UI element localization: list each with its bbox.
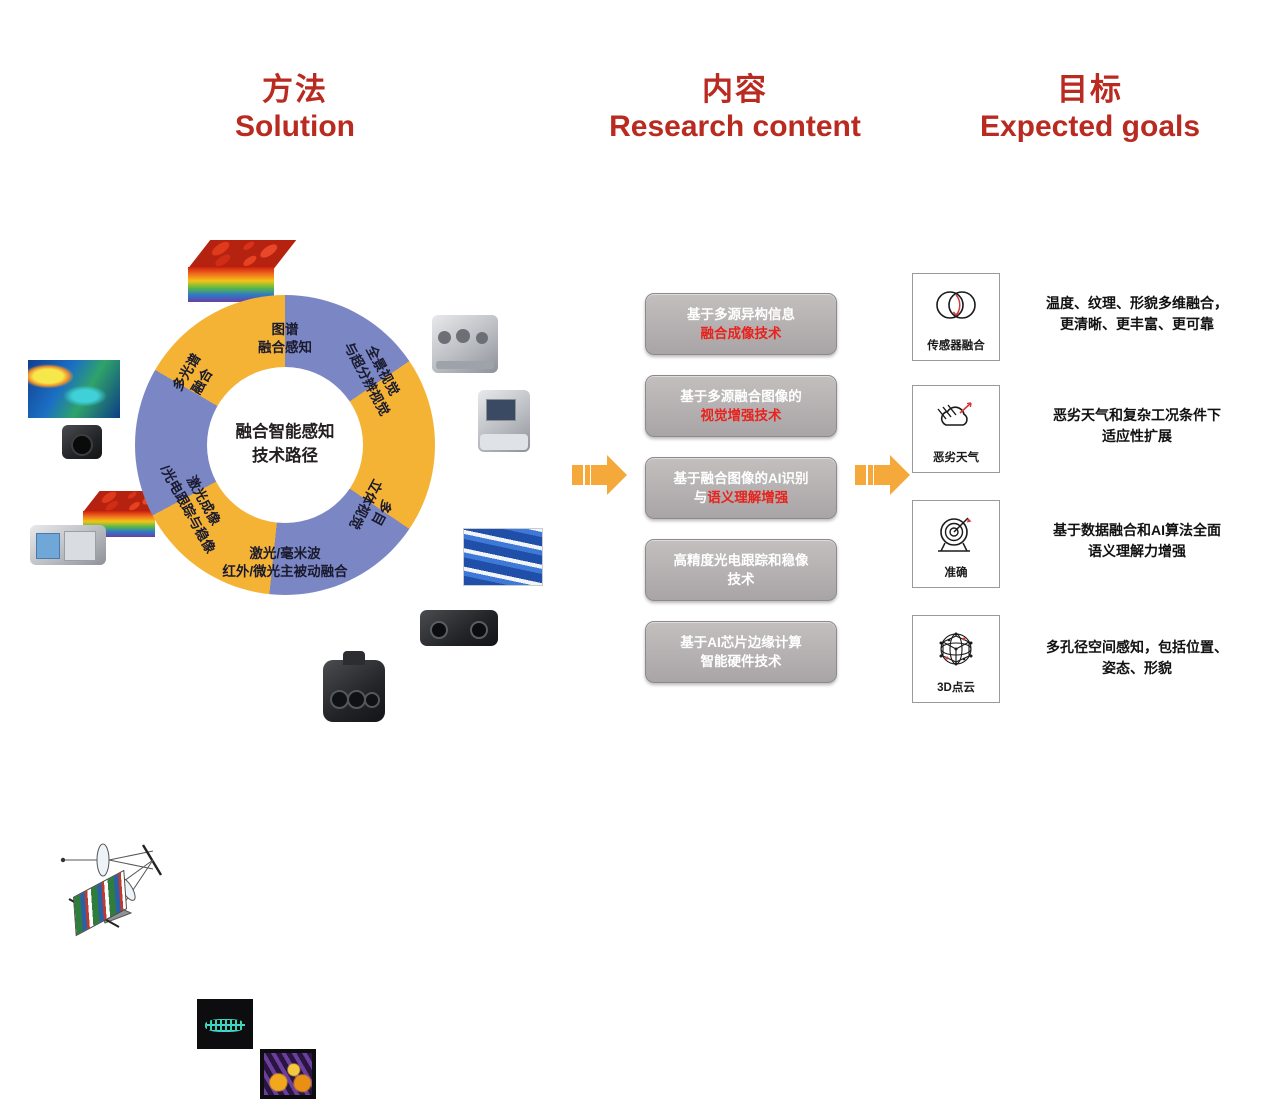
research-content-box-3-line1: 高精度光电跟踪和稳像 xyxy=(674,551,809,570)
target-dart-icon xyxy=(930,510,982,558)
column-header-goals-en: Expected goals xyxy=(940,109,1240,144)
goal-text-0-line1: 温度、纹理、形貌多维融合， xyxy=(1022,293,1252,314)
wheel-center-line1: 融合智能感知 xyxy=(236,421,335,445)
column-header-content-cn: 内容 xyxy=(585,72,885,109)
goal-text-2-line2: 语义理解力增强 xyxy=(1022,541,1252,562)
goal-text-0-line2: 更清晰、更丰富、更可靠 xyxy=(1022,314,1252,335)
research-content-box-4-line2: 智能硬件技术 xyxy=(680,652,802,671)
goal-card-sensor-fusion[interactable]: 传感器融合 xyxy=(912,273,1000,361)
research-content-box-0[interactable]: 基于多源异构信息 融合成像技术 xyxy=(645,293,837,355)
wheel-segment-3-line1: 激光/毫米波 xyxy=(217,545,353,563)
goal-card-label-3: 3D点云 xyxy=(937,679,975,695)
diagram-canvas: 方法 Solution 内容 Research content 目标 Expec… xyxy=(0,0,1268,866)
thermal-infrared-image xyxy=(28,360,120,418)
research-content-box-3-line2: 技术 xyxy=(674,570,809,589)
rain-cloud-icon xyxy=(930,395,982,443)
venn-fusion-icon xyxy=(930,283,982,331)
flow-arrow-content-to-goals xyxy=(855,455,913,495)
research-content-box-2[interactable]: 基于融合图像的AI识别 与语义理解增强 xyxy=(645,457,837,519)
research-content-box-3[interactable]: 高精度光电跟踪和稳像 技术 xyxy=(645,539,837,601)
thermal-camera-device xyxy=(62,425,102,459)
column-header-goals-cn: 目标 xyxy=(940,72,1240,109)
research-content-box-2-line1: 基于融合图像的AI识别 xyxy=(674,469,809,488)
research-content-box-1-line1: 基于多源融合图像的 xyxy=(680,387,802,406)
goal-text-1-line2: 适应性扩展 xyxy=(1022,426,1252,447)
flow-arrow-solution-to-content xyxy=(572,455,630,495)
goal-card-bad-weather[interactable]: 恶劣天气 xyxy=(912,385,1000,473)
research-content-box-1[interactable]: 基于多源融合图像的 视觉增强技术 xyxy=(645,375,837,437)
column-header-content: 内容 Research content xyxy=(585,72,885,144)
wheel-segment-label-3[interactable]: 激光/毫米波 红外/微光主被动融合 xyxy=(217,545,353,581)
goal-text-3-line2: 姿态、形貌 xyxy=(1022,658,1252,679)
goal-text-1: 恶劣天气和复杂工况条件下 适应性扩展 xyxy=(1022,405,1252,447)
column-header-goals: 目标 Expected goals xyxy=(940,72,1240,144)
optical-raytrace-schematic xyxy=(35,827,205,932)
column-header-solution-en: Solution xyxy=(150,109,440,144)
point-cloud-sphere-icon xyxy=(930,625,982,673)
panoramic-camera-rig-device xyxy=(432,315,498,373)
research-content-box-1-line2: 视觉增强技术 xyxy=(680,406,802,425)
goal-text-3: 多孔径空间感知，包括位置、 姿态、形貌 xyxy=(1022,637,1252,679)
wheel-center-label: 融合智能感知 技术路径 xyxy=(207,367,363,523)
structured-light-pattern-image xyxy=(463,528,543,586)
wheel-segment-0-line1: 图谱 xyxy=(230,321,340,339)
research-content-box-4-line1: 基于AI芯片边缘计算 xyxy=(680,633,802,652)
wheel-segment-3-line2: 红外/微光主被动融合 xyxy=(217,563,353,581)
goal-card-point-cloud[interactable]: 3D点云 xyxy=(912,615,1000,703)
column-header-solution-cn: 方法 xyxy=(150,72,440,109)
goal-text-2-line1: 基于数据融合和AI算法全面 xyxy=(1022,520,1252,541)
column-header-content-en: Research content xyxy=(585,109,885,144)
research-content-box-0-line1: 基于多源异构信息 xyxy=(687,305,795,324)
research-content-box-4[interactable]: 基于AI芯片边缘计算 智能硬件技术 xyxy=(645,621,837,683)
hyperspectral-cube-image xyxy=(188,240,274,302)
goal-text-3-line1: 多孔径空间感知，包括位置、 xyxy=(1022,637,1252,658)
technology-path-wheel: 融合智能感知 技术路径 图谱 融合感知 全景视觉 与超分辨视觉 多目 立体视觉 … xyxy=(135,295,435,595)
goal-card-label-2: 准确 xyxy=(945,564,968,580)
research-content-box-2-line2: 语义理解增强 xyxy=(707,490,788,505)
goal-card-label-0: 传感器融合 xyxy=(927,337,985,353)
scanner-device xyxy=(478,390,530,452)
goal-text-2: 基于数据融合和AI算法全面 语义理解力增强 xyxy=(1022,520,1252,562)
wheel-segment-0-line2: 融合感知 xyxy=(230,339,340,357)
stereo-camera-bar-device xyxy=(420,610,498,646)
laser-module-device xyxy=(30,525,106,565)
column-header-solution: 方法 Solution xyxy=(150,72,440,144)
research-content-box-2-line2-prefix: 与 xyxy=(694,490,708,505)
goal-text-0: 温度、纹理、形貌多维融合， 更清晰、更丰富、更可靠 xyxy=(1022,293,1252,335)
gimbal-turret-device xyxy=(323,660,385,722)
wheel-segment-label-0[interactable]: 图谱 融合感知 xyxy=(230,321,340,357)
goal-text-1-line1: 恶劣天气和复杂工况条件下 xyxy=(1022,405,1252,426)
lidar-point-cloud-image xyxy=(197,999,253,1049)
goal-card-accuracy[interactable]: 准确 xyxy=(912,500,1000,588)
research-content-box-0-line2: 融合成像技术 xyxy=(687,324,795,343)
thermal-scene-image xyxy=(260,1049,316,1099)
goal-card-label-1: 恶劣天气 xyxy=(933,449,979,465)
wheel-center-line2: 技术路径 xyxy=(252,445,318,469)
